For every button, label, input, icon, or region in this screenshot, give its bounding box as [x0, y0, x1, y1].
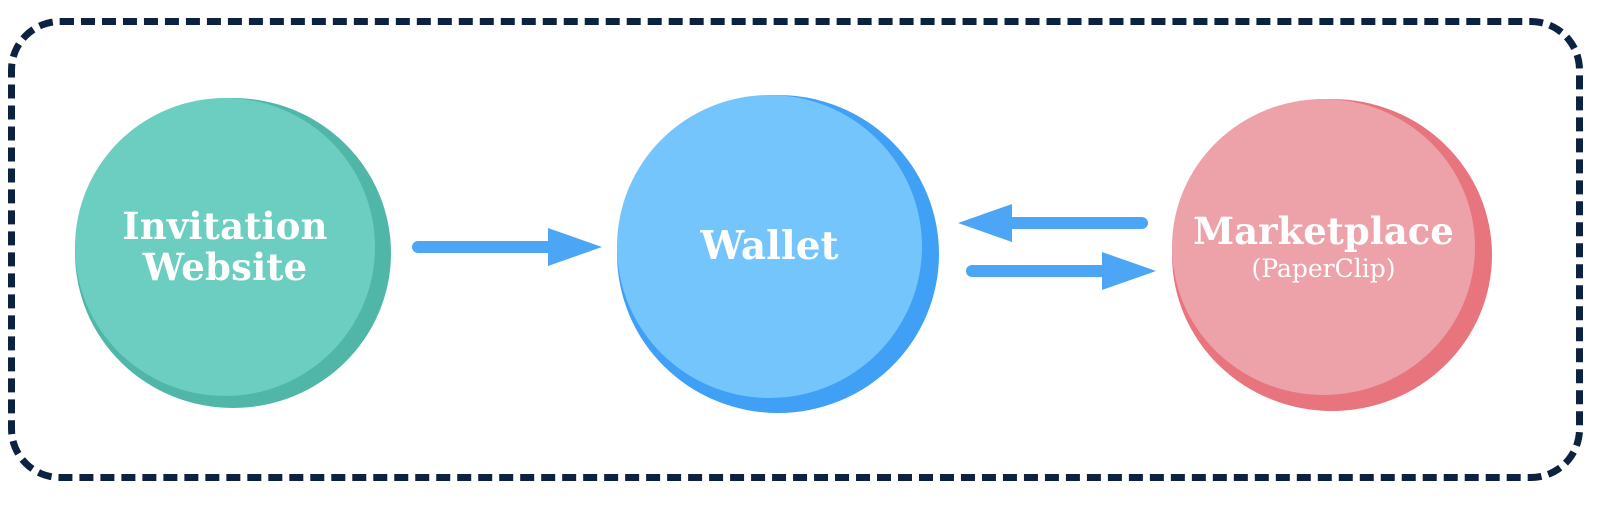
node-title-line1: Wallet	[700, 225, 838, 269]
arrow-marketplace-to-wallet	[958, 200, 1148, 246]
node-marketplace[interactable]: Marketplace (PaperClip)	[1172, 99, 1492, 411]
node-title-line2: Website	[143, 247, 308, 288]
arrow-invitation-website-to-wallet	[412, 222, 602, 272]
diagram-canvas: Invitation Website Wallet Marketplace (P…	[0, 0, 1600, 507]
arrow-left-icon	[958, 204, 1148, 242]
node-wallet[interactable]: Wallet	[617, 95, 939, 413]
node-title-line1: Invitation	[122, 206, 328, 247]
node-subtitle: (PaperClip)	[1252, 255, 1396, 283]
arrow-right-icon	[966, 252, 1156, 290]
node-title-line1: Marketplace	[1193, 211, 1454, 252]
node-face: Marketplace (PaperClip)	[1172, 99, 1475, 395]
node-face: Wallet	[617, 95, 922, 398]
arrow-wallet-to-marketplace	[958, 248, 1156, 294]
arrow-right-icon	[412, 228, 602, 266]
node-face: Invitation Website	[75, 98, 375, 396]
node-invitation-website[interactable]: Invitation Website	[75, 98, 391, 408]
